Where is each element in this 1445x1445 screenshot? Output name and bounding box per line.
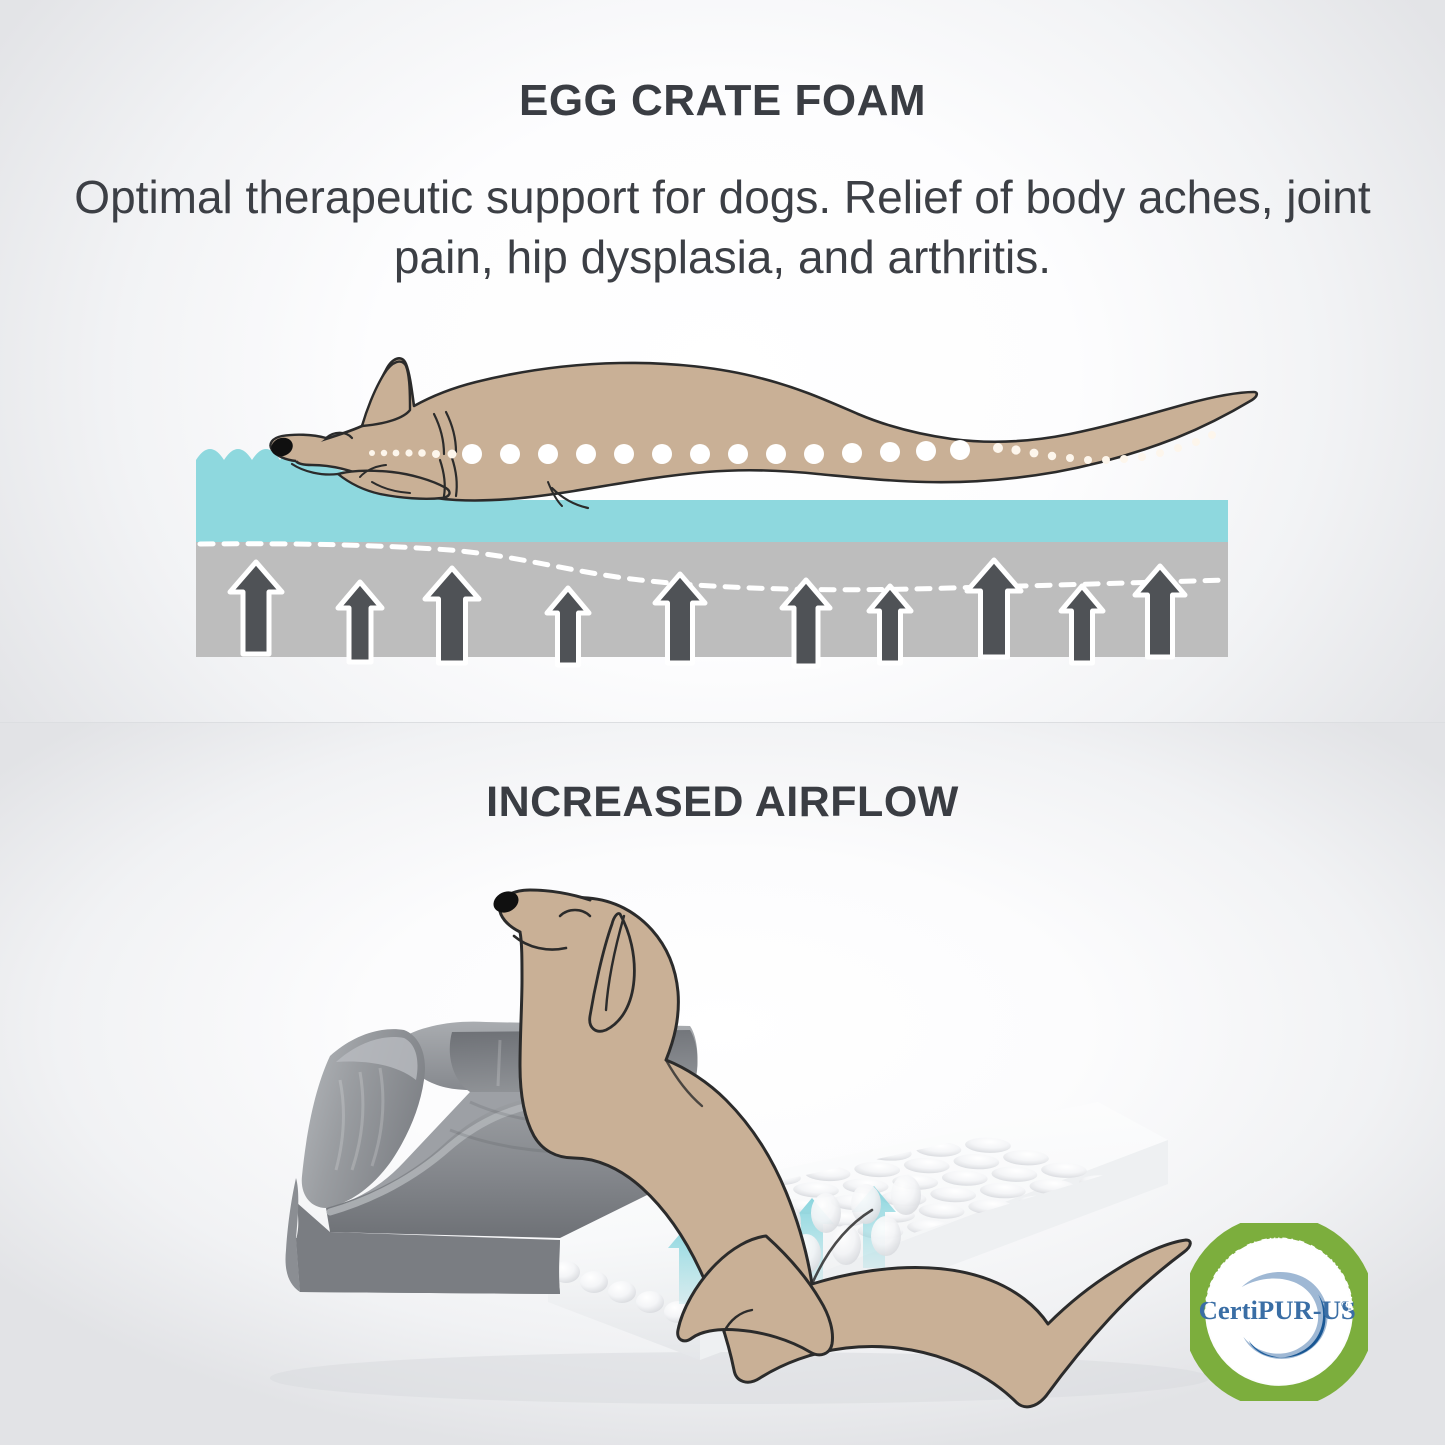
section-title-egg-crate-foam: EGG CRATE FOAM — [0, 76, 1445, 126]
section-subtitle-egg-crate-foam: Optimal therapeutic support for dogs. Re… — [68, 168, 1378, 288]
egg-crate-cross-section-diagram — [0, 330, 1445, 680]
dog-illustration-side — [269, 358, 1257, 508]
section-title-increased-airflow: INCREASED AIRFLOW — [0, 778, 1445, 827]
svg-text:CertiPUR-US: CertiPUR-US — [1199, 1295, 1356, 1325]
infographic-page: EGG CRATE FOAM Optimal therapeutic suppo… — [0, 0, 1445, 1445]
certipur-us-badge: CertiPUR-US ® CONTAINS CERTIFIED FLEXIBL… — [1190, 1223, 1368, 1401]
badge-wordmark: CertiPUR-US ® — [1199, 1295, 1356, 1325]
